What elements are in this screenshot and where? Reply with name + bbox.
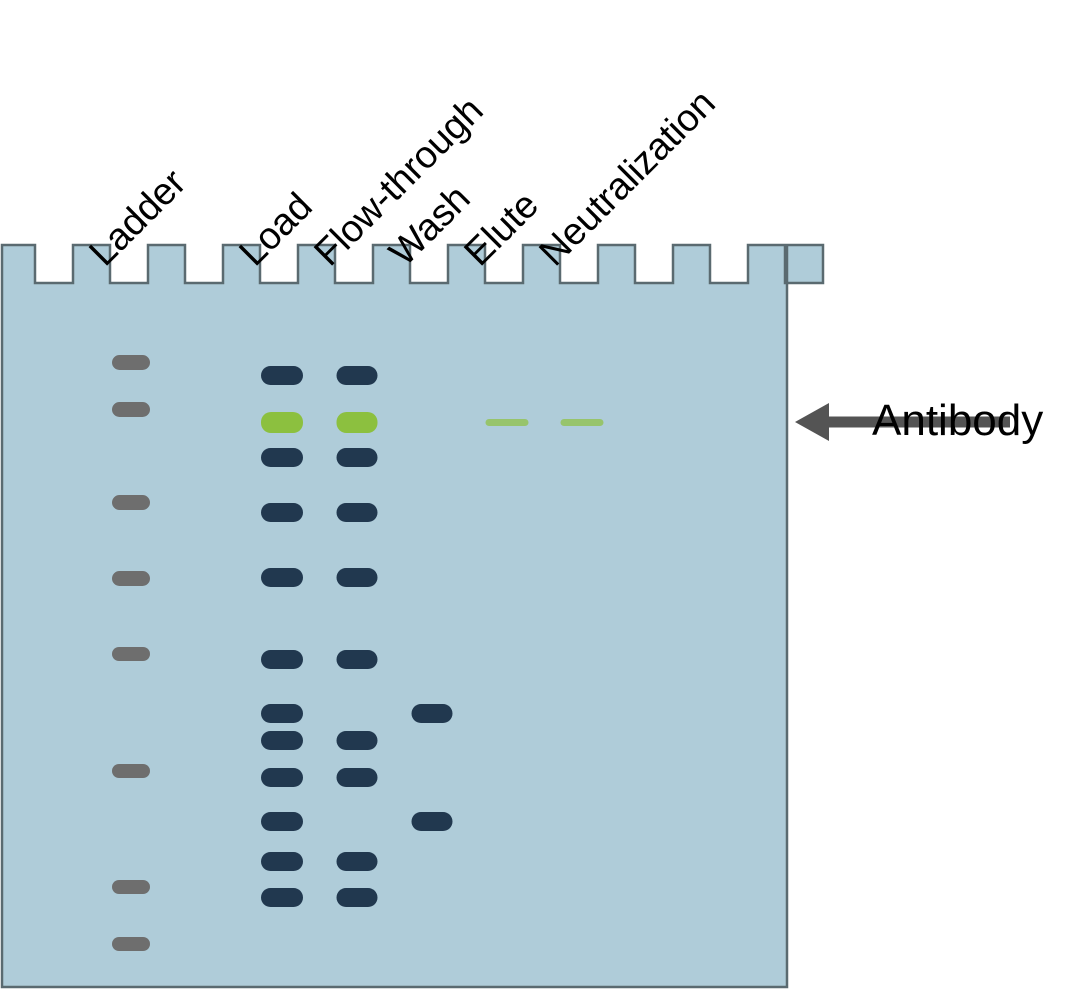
band-load-11	[261, 852, 303, 871]
band-ladder-1	[112, 355, 150, 370]
band-flow-through-1	[337, 366, 378, 385]
band-ladder-5	[112, 647, 150, 661]
band-load-1	[261, 366, 303, 385]
band-flow-through-9	[337, 852, 378, 871]
band-load-8	[261, 731, 303, 750]
band-flow-through-3	[337, 448, 378, 467]
lane-elute	[486, 419, 529, 426]
band-flow-through-8	[337, 768, 378, 787]
band-ladder-2	[112, 402, 150, 417]
band-wash-1	[412, 704, 453, 723]
band-load-9	[261, 768, 303, 787]
band-wash-2	[412, 812, 453, 831]
band-ladder-3	[112, 495, 150, 510]
band-load-4	[261, 503, 303, 522]
band-load-6	[261, 650, 303, 669]
band-flow-through-7	[337, 731, 378, 750]
antibody-band-elute	[486, 419, 529, 426]
gel-figure: LadderLoadFlow-throughWashEluteNeutraliz…	[0, 0, 1066, 993]
gel-diagram	[0, 0, 1066, 993]
band-ladder-6	[112, 764, 150, 778]
band-flow-through-6	[337, 650, 378, 669]
antibody-band-flow-through	[337, 412, 378, 433]
band-load-3	[261, 448, 303, 467]
antibody-band-neutralization	[561, 419, 604, 426]
antibody-band-load	[261, 412, 303, 433]
band-ladder-8	[112, 937, 150, 951]
antibody-annotation-label: Antibody	[872, 396, 1043, 446]
band-load-12	[261, 888, 303, 907]
band-flow-through-4	[337, 503, 378, 522]
lane-neutralization	[561, 419, 604, 426]
band-load-5	[261, 568, 303, 587]
band-ladder-7	[112, 880, 150, 894]
band-ladder-4	[112, 571, 150, 586]
band-load-10	[261, 812, 303, 831]
band-flow-through-10	[337, 888, 378, 907]
band-load-7	[261, 704, 303, 723]
band-flow-through-5	[337, 568, 378, 587]
